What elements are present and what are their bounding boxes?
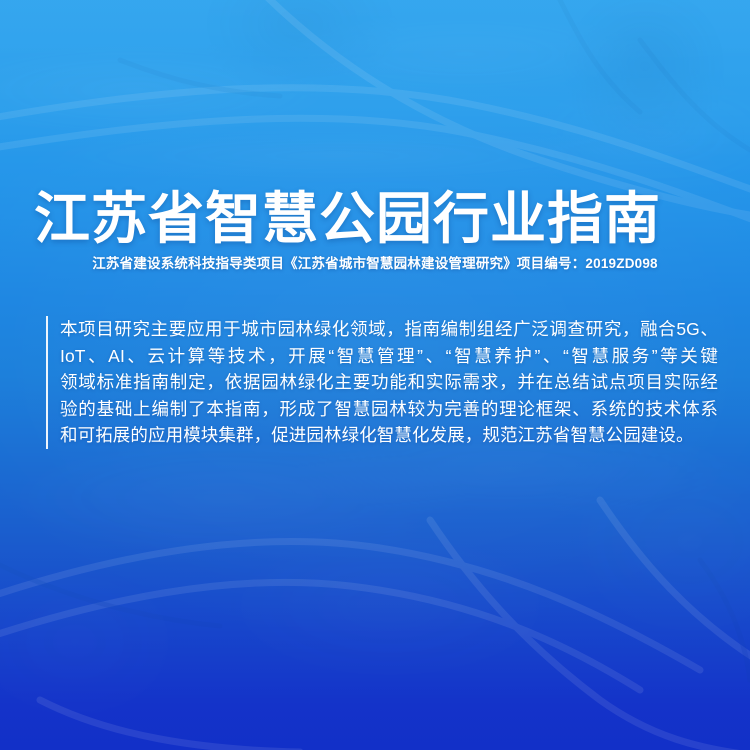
description-block: 本项目研究主要应用于城市园林绿化领域，指南编制组经广泛调查研究，融合5G、 Io… bbox=[46, 316, 718, 449]
description-line: 本项目研究主要应用于城市园林绿化领域，指南编制组经广泛调查研究，融合5G、 bbox=[60, 316, 718, 343]
description-line: 验的基础上编制了本指南，形成了智慧园林较为完善的理论框架、系统的技术体系 bbox=[60, 396, 718, 423]
description-line: 和可拓展的应用模块集群，促进园林绿化智慧化发展，规范江苏省智慧公园建设。 bbox=[60, 422, 718, 449]
poster-content: 江苏省智慧公园行业指南 江苏省建设系统科技指导类项目《江苏省城市智慧园林建设管理… bbox=[0, 0, 750, 750]
poster-canvas: 江苏省智慧公园行业指南 江苏省建设系统科技指导类项目《江苏省城市智慧园林建设管理… bbox=[0, 0, 750, 750]
description-line: 领域标准指南制定，依据园林绿化主要功能和实际需求，并在总结试点项目实际经 bbox=[60, 369, 718, 396]
project-subtitle: 江苏省建设系统科技指导类项目《江苏省城市智慧园林建设管理研究》项目编号：2019… bbox=[0, 254, 750, 274]
page-title: 江苏省智慧公园行业指南 bbox=[34, 186, 661, 252]
description-line: IoT、AI、云计算等技术，开展“智慧管理”、“智慧养护”、“智慧服务”等关键 bbox=[60, 343, 718, 370]
